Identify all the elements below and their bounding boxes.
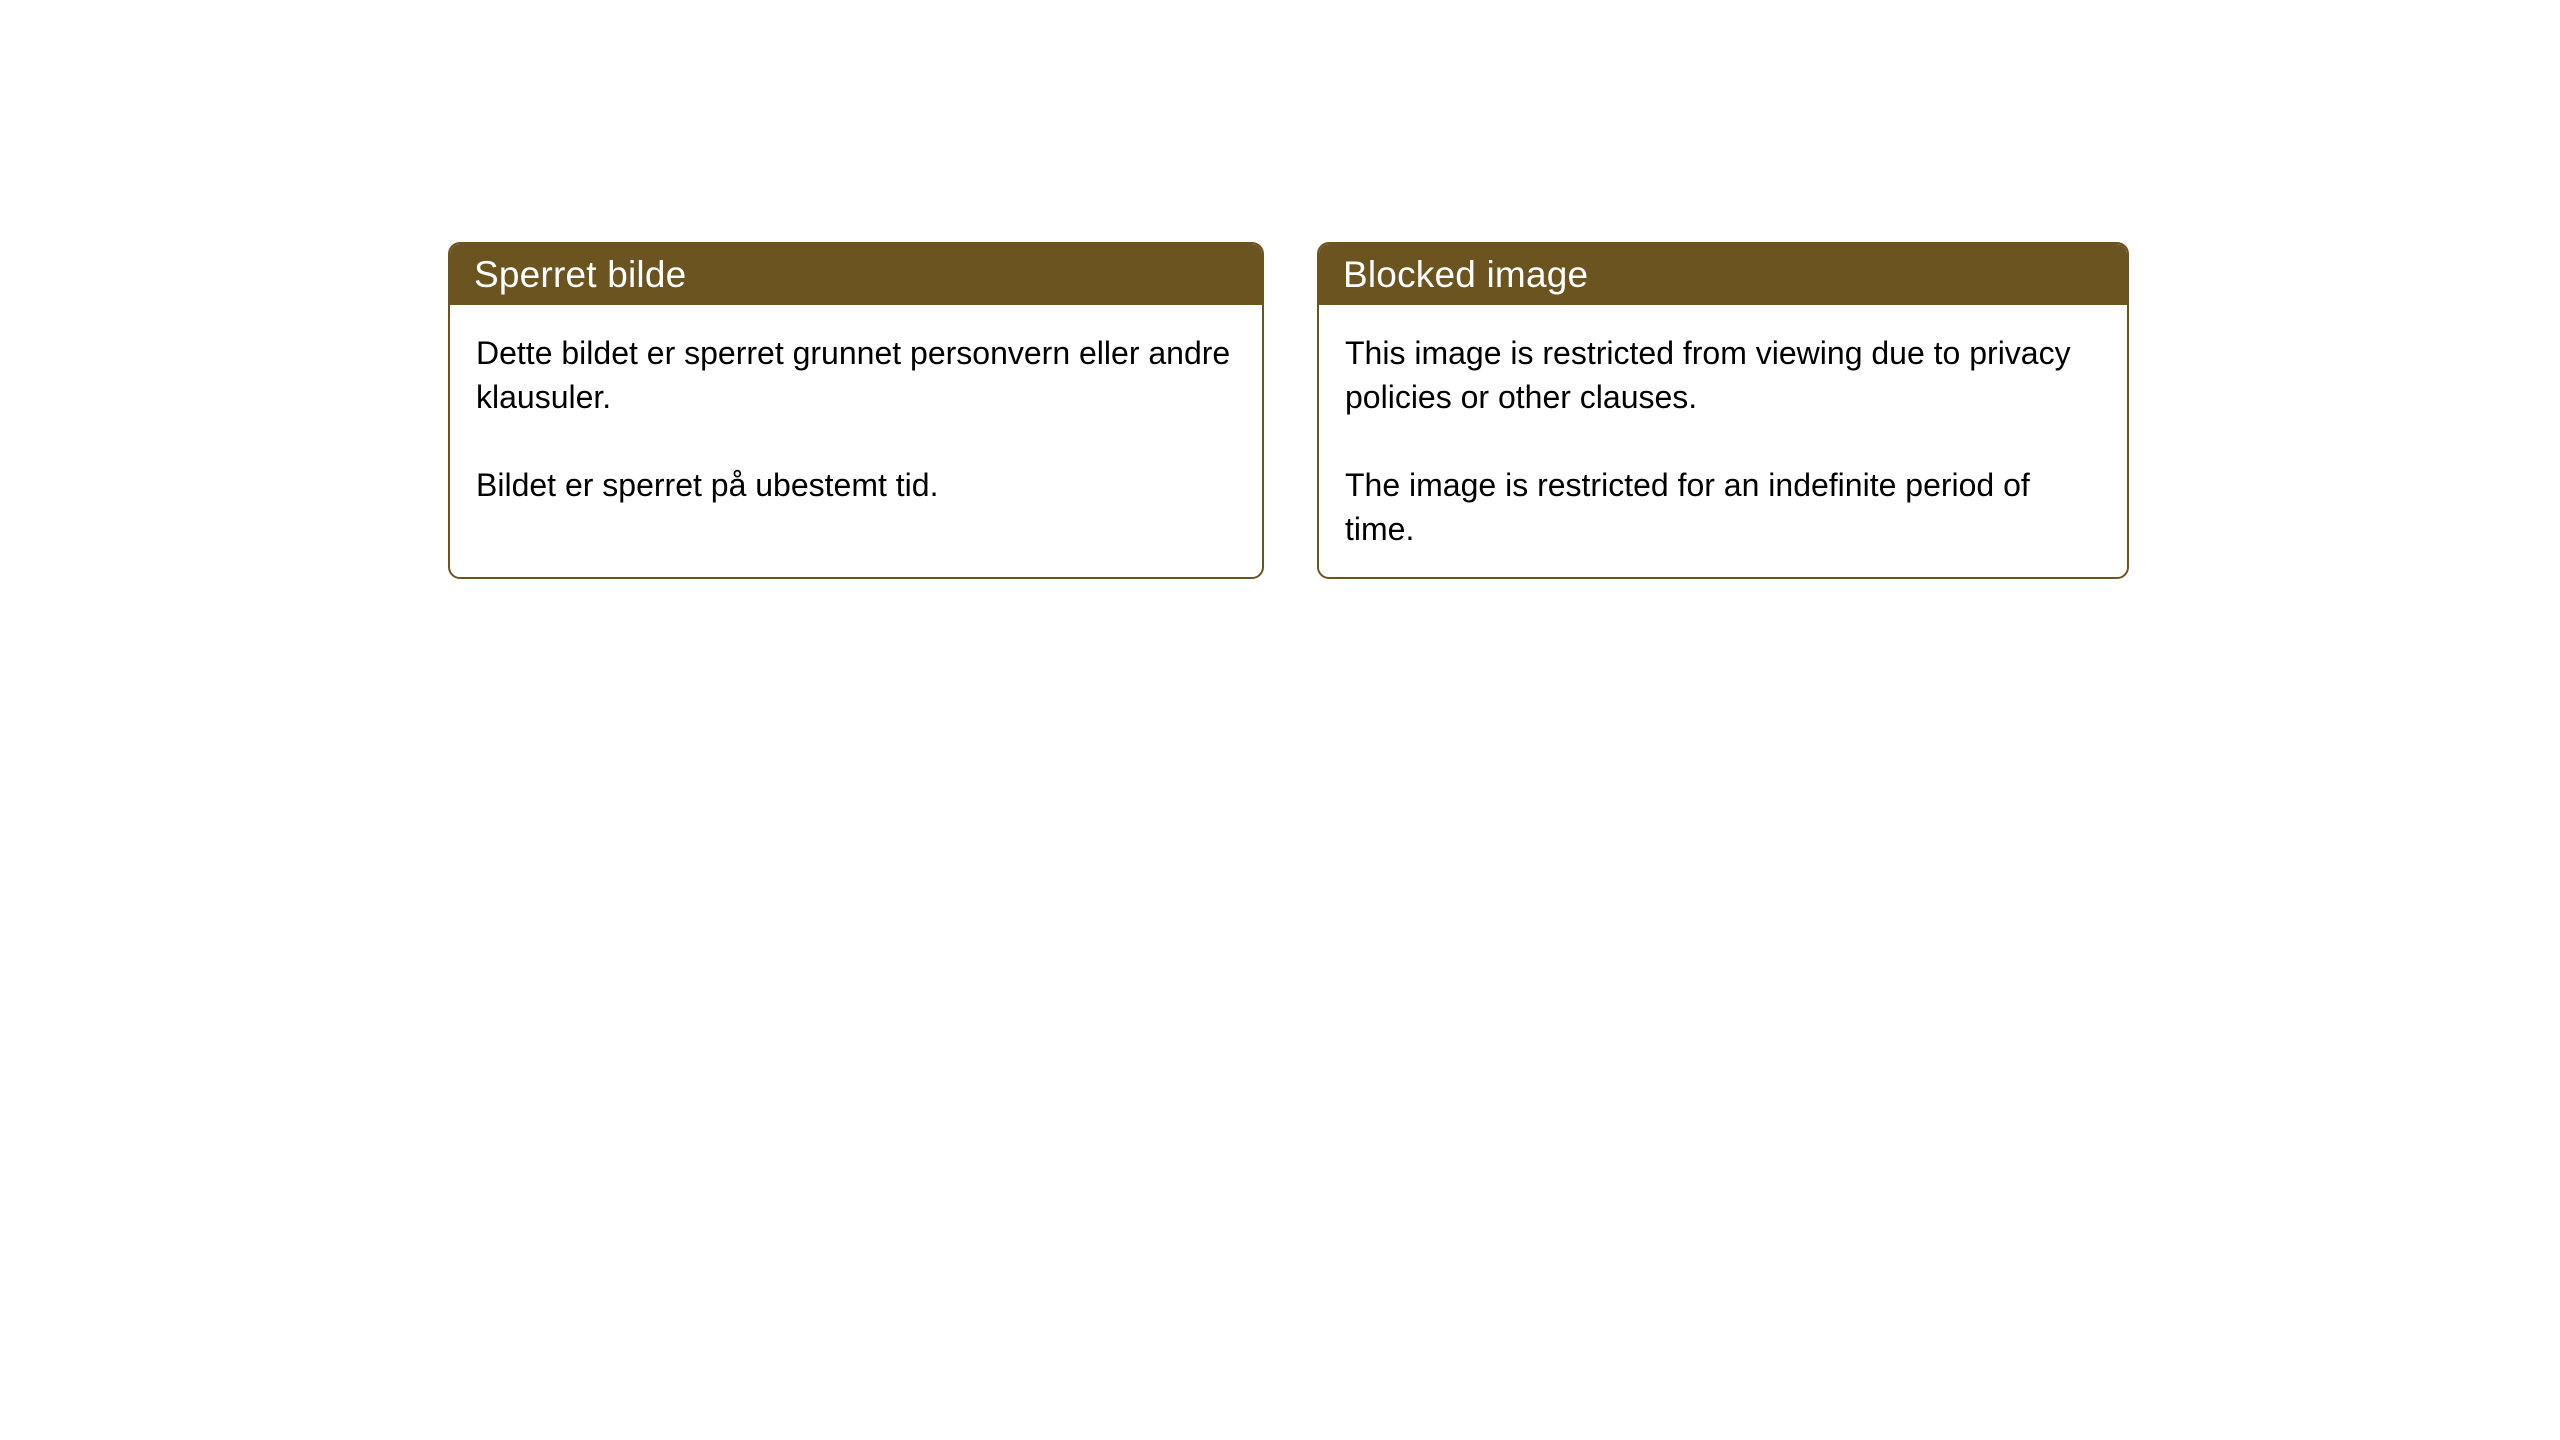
card-paragraph-primary-english: This image is restricted from viewing du… (1345, 331, 2103, 419)
card-title-english: Blocked image (1343, 256, 1588, 293)
card-body-norwegian: Dette bildet er sperret grunnet personve… (450, 305, 1262, 527)
blocked-image-card-english: Blocked image This image is restricted f… (1317, 242, 2129, 579)
card-paragraph-primary-norwegian: Dette bildet er sperret grunnet personve… (476, 331, 1238, 419)
card-body-english: This image is restricted from viewing du… (1319, 305, 2127, 571)
card-header-norwegian: Sperret bilde (450, 244, 1262, 305)
blocked-image-card-norwegian: Sperret bilde Dette bildet er sperret gr… (448, 242, 1264, 579)
paragraph-spacer-norwegian (476, 419, 1238, 463)
card-title-norwegian: Sperret bilde (474, 256, 686, 293)
card-header-english: Blocked image (1319, 244, 2127, 305)
page-root: Sperret bilde Dette bildet er sperret gr… (0, 0, 2560, 1440)
card-paragraph-secondary-english: The image is restricted for an indefinit… (1345, 463, 2103, 551)
paragraph-spacer-english (1345, 419, 2103, 463)
card-paragraph-secondary-norwegian: Bildet er sperret på ubestemt tid. (476, 463, 1238, 507)
